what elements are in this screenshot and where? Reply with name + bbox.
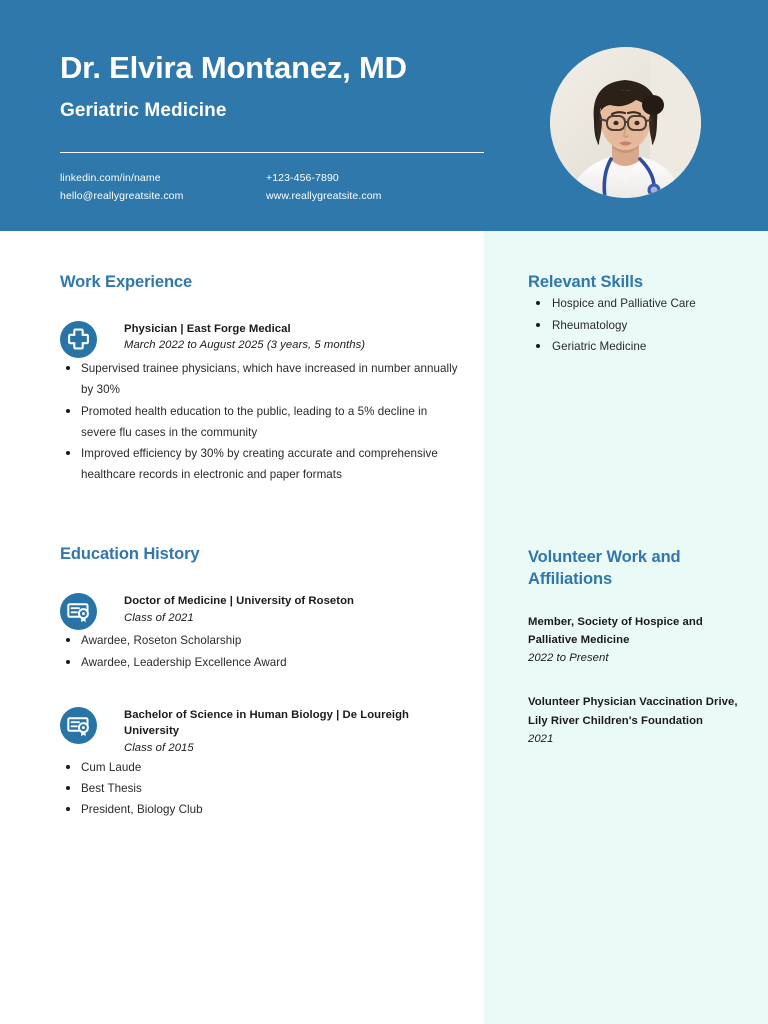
contact-column-left: linkedin.com/in/name hello@reallygreatsi… bbox=[60, 170, 266, 205]
medical-cross-icon bbox=[60, 321, 97, 358]
list-item: Best Thesis bbox=[60, 778, 464, 799]
volunteer-entry: Member, Society of Hospice and Palliativ… bbox=[528, 613, 740, 668]
volunteer-entry: Volunteer Physician Vaccination Drive, L… bbox=[528, 693, 740, 748]
list-item: Cum Laude bbox=[60, 757, 464, 778]
volunteer-title: Volunteer Physician Vaccination Drive, L… bbox=[528, 693, 740, 730]
list-item: President, Biology Club bbox=[60, 799, 464, 820]
sidebar-content: Relevant Skills Hospice and Palliative C… bbox=[528, 272, 740, 748]
contact-phone[interactable]: +123-456-7890 bbox=[266, 170, 382, 186]
volunteer-date: 2022 to Present bbox=[528, 649, 740, 667]
page-title: Dr. Elvira Montanez, MD bbox=[60, 50, 484, 86]
sidebar: Relevant Skills Hospice and Palliative C… bbox=[484, 231, 768, 1024]
list-item: Rheumatology bbox=[528, 315, 740, 336]
header-subtitle: Geriatric Medicine bbox=[60, 100, 484, 122]
diploma-icon bbox=[60, 593, 97, 630]
education-entry: Doctor of Medicine | University of Roset… bbox=[60, 593, 464, 630]
education-year: Class of 2015 bbox=[124, 740, 464, 757]
diploma-icon bbox=[60, 707, 97, 744]
volunteer-title: Member, Society of Hospice and Palliativ… bbox=[528, 613, 740, 650]
section-title-relevant-skills: Relevant Skills bbox=[528, 272, 740, 293]
list-item: Improved efficiency by 30% by creating a… bbox=[60, 443, 464, 485]
work-entry-body: Physician | East Forge Medical March 202… bbox=[97, 321, 464, 354]
list-item: Awardee, Roseton Scholarship bbox=[60, 630, 464, 651]
contact-website[interactable]: www.reallygreatsite.com bbox=[266, 188, 382, 204]
main-column: Work Experience Physician | East Forge M… bbox=[0, 231, 484, 1024]
list-item: Awardee, Leadership Excellence Award bbox=[60, 652, 464, 673]
list-item: Hospice and Palliative Care bbox=[528, 293, 740, 314]
resume-page: Dr. Elvira Montanez, MD Geriatric Medici… bbox=[0, 0, 768, 1024]
resume-header: Dr. Elvira Montanez, MD Geriatric Medici… bbox=[0, 0, 768, 231]
education-degree: Doctor of Medicine | University of Roset… bbox=[124, 593, 464, 609]
header-text-block: Dr. Elvira Montanez, MD Geriatric Medici… bbox=[60, 50, 484, 122]
list-item: Geriatric Medicine bbox=[528, 336, 740, 357]
avatar bbox=[550, 47, 701, 198]
list-item: Promoted health education to the public,… bbox=[60, 401, 464, 443]
education-year: Class of 2021 bbox=[124, 610, 464, 627]
section-title-work-experience: Work Experience bbox=[60, 272, 464, 293]
header-divider bbox=[60, 152, 484, 153]
skills-list: Hospice and Palliative Care Rheumatology… bbox=[528, 293, 740, 357]
section-title-education-history: Education History bbox=[60, 544, 464, 565]
work-bullet-list: Supervised trainee physicians, which hav… bbox=[60, 358, 464, 485]
education-entry-body: Doctor of Medicine | University of Roset… bbox=[97, 593, 464, 626]
contact-info: linkedin.com/in/name hello@reallygreatsi… bbox=[60, 170, 484, 205]
list-item: Supervised trainee physicians, which hav… bbox=[60, 358, 464, 400]
work-dates: March 2022 to August 2025 (3 years, 5 mo… bbox=[124, 337, 464, 354]
education-entry: Bachelor of Science in Human Biology | D… bbox=[60, 707, 464, 757]
main-content: Work Experience Physician | East Forge M… bbox=[60, 272, 464, 820]
volunteer-date: 2021 bbox=[528, 730, 740, 748]
work-experience-entry: Physician | East Forge Medical March 202… bbox=[60, 321, 464, 358]
education-bullet-list: Cum Laude Best Thesis President, Biology… bbox=[60, 757, 464, 821]
section-title-volunteer-work: Volunteer Work and Affiliations bbox=[528, 547, 740, 589]
contact-email[interactable]: hello@reallygreatsite.com bbox=[60, 188, 266, 204]
education-entry-body: Bachelor of Science in Human Biology | D… bbox=[97, 707, 464, 757]
education-degree: Bachelor of Science in Human Biology | D… bbox=[124, 707, 464, 740]
education-bullet-list: Awardee, Roseton Scholarship Awardee, Le… bbox=[60, 630, 464, 672]
contact-linkedin[interactable]: linkedin.com/in/name bbox=[60, 170, 266, 186]
work-role: Physician | East Forge Medical bbox=[124, 321, 464, 337]
contact-column-right: +123-456-7890 www.reallygreatsite.com bbox=[266, 170, 382, 205]
